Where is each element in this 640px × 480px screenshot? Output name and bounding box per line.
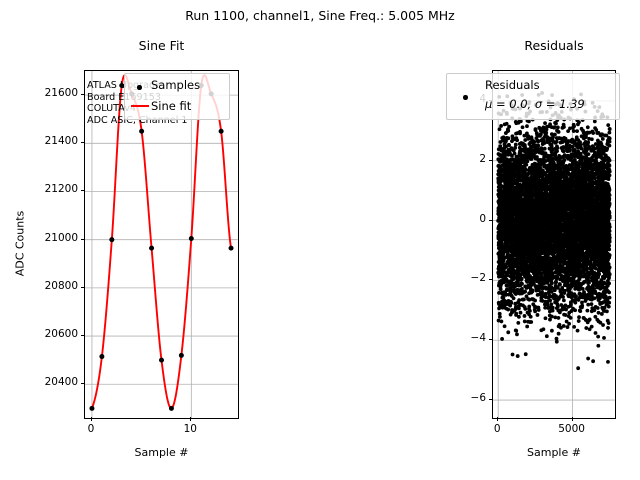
sample-point — [139, 129, 144, 134]
residuals-axes — [492, 70, 616, 419]
y-tick-mark — [489, 279, 493, 280]
y-tick-label: −2 — [428, 272, 486, 284]
legend-residuals-stats: μ = 0.0, σ = 1.39 — [485, 97, 585, 111]
y-tick-label: 21000 — [20, 232, 78, 244]
y-tick-mark — [489, 220, 493, 221]
y-tick-label: 20600 — [20, 328, 78, 340]
x-tick-label: 5000 — [532, 423, 612, 435]
y-tick-label: 2 — [428, 153, 486, 165]
sample-point — [219, 129, 224, 134]
y-tick-label: 20800 — [20, 280, 78, 292]
y-tick-label: 21200 — [20, 183, 78, 195]
sample-point — [99, 354, 104, 359]
y-tick-mark — [81, 383, 85, 384]
y-tick-mark — [489, 160, 493, 161]
left-xlabel: Sample # — [84, 446, 239, 459]
right-panel-title: Residuals — [492, 38, 616, 53]
y-tick-label: −4 — [428, 332, 486, 344]
y-tick-label: 21600 — [20, 87, 78, 99]
x-tick-mark — [572, 417, 573, 421]
sample-point — [159, 358, 164, 363]
residual-points — [496, 91, 611, 370]
legend-samples-marker — [137, 85, 142, 90]
sample-point — [109, 237, 114, 242]
legend-sinefit-swatch — [131, 105, 149, 107]
y-tick-label: −6 — [428, 392, 486, 404]
residuals-plot-area — [493, 71, 615, 418]
sample-point — [89, 406, 94, 411]
x-tick-label: 10 — [150, 423, 230, 435]
x-tick-mark — [497, 417, 498, 421]
y-tick-mark — [81, 94, 85, 95]
residuals-legend: Residuals μ = 0.0, σ = 1.39 — [446, 73, 620, 120]
sample-point — [149, 246, 154, 251]
legend-residuals-marker — [463, 95, 468, 100]
y-tick-mark — [81, 239, 85, 240]
matplotlib-figure: Run 1100, channel1, Sine Freq.: 5.005 MH… — [0, 0, 640, 480]
y-tick-mark — [81, 287, 85, 288]
sine-fit-legend: Samples Sine fit — [124, 73, 230, 120]
x-tick-label: 0 — [457, 423, 537, 435]
x-tick-mark — [91, 417, 92, 421]
right-xlabel: Sample # — [492, 446, 616, 459]
y-tick-mark — [489, 339, 493, 340]
legend-samples-label: Samples — [151, 78, 200, 92]
x-tick-mark — [190, 417, 191, 421]
y-tick-mark — [489, 399, 493, 400]
sample-point — [189, 236, 194, 241]
legend-sinefit-label: Sine fit — [151, 99, 191, 113]
left-ylabel: ADC Counts — [14, 184, 27, 304]
sample-point — [229, 246, 234, 251]
y-tick-label: 21400 — [20, 135, 78, 147]
y-tick-mark — [81, 190, 85, 191]
y-tick-label: 20400 — [20, 376, 78, 388]
y-tick-label: 0 — [428, 213, 486, 225]
figure-suptitle: Run 1100, channel1, Sine Freq.: 5.005 MH… — [0, 8, 640, 23]
y-tick-mark — [81, 335, 85, 336]
legend-residuals-label: Residuals — [485, 78, 540, 92]
left-panel-title: Sine Fit — [84, 38, 239, 53]
x-tick-label: 0 — [51, 423, 131, 435]
sample-point — [169, 406, 174, 411]
y-tick-mark — [81, 142, 85, 143]
sample-point — [179, 353, 184, 358]
